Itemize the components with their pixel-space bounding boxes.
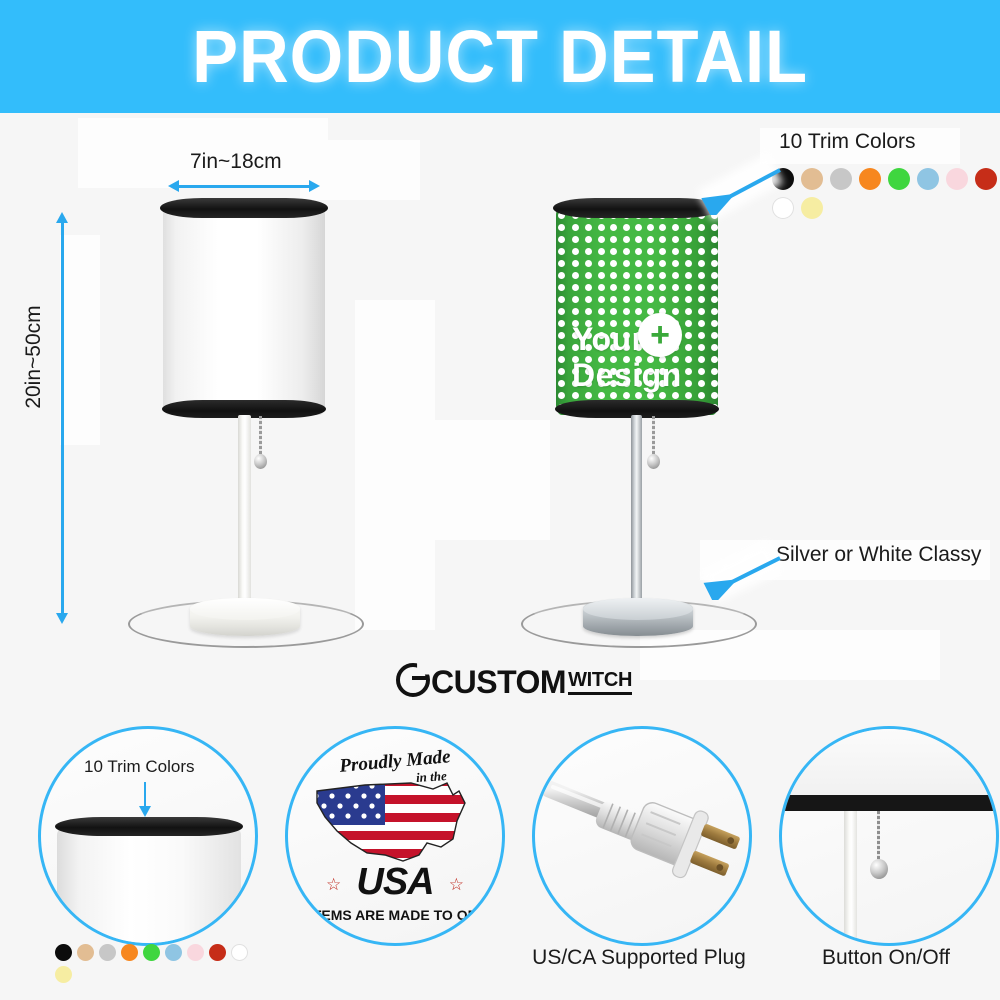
width-dimension-arrow xyxy=(168,180,320,192)
logo-secondary-wrap: WITCH xyxy=(568,671,632,697)
logo-underline xyxy=(568,692,632,695)
brand-logo: CUSTOM WITCH xyxy=(396,663,632,697)
header-banner: PRODUCT DETAIL xyxy=(0,0,1000,113)
trim-colors-inner-label: 10 Trim Colors xyxy=(84,757,195,777)
trim-band xyxy=(55,817,243,836)
lamp-shade-white xyxy=(163,205,325,415)
trim-swatch-lightblue[interactable] xyxy=(165,944,182,961)
trim-swatch-pink[interactable] xyxy=(187,944,204,961)
feature-circle-plug xyxy=(532,726,752,946)
trim-swatch-gray[interactable] xyxy=(99,944,116,961)
trim-swatch-red[interactable] xyxy=(209,944,226,961)
trim-band xyxy=(779,795,999,811)
bg-patch xyxy=(355,300,435,630)
pull-chain[interactable] xyxy=(652,416,655,458)
usa-star-right: ☆ xyxy=(449,875,464,895)
trim-colors-callout-label: 10 Trim Colors xyxy=(779,130,916,154)
design-line-2: Design xyxy=(572,357,682,393)
trim-swatch-yellow[interactable] xyxy=(55,966,72,983)
pull-chain[interactable] xyxy=(877,811,880,863)
trim-swatch-black[interactable] xyxy=(55,944,72,961)
pull-chain-ball[interactable] xyxy=(870,859,888,879)
trim-swatch-orange[interactable] xyxy=(859,168,881,190)
lamp-pole-silver xyxy=(631,415,642,605)
usa-headline: USA xyxy=(356,863,433,901)
lamp-trim-top xyxy=(160,198,328,218)
logo-c-mark-icon xyxy=(396,663,430,697)
feature-circle-switch xyxy=(779,726,999,946)
lamp-base-silver xyxy=(583,598,693,636)
shade-fragment xyxy=(57,827,241,946)
height-dimension-arrow xyxy=(56,212,68,624)
base-finish-arrow xyxy=(700,552,786,600)
bg-patch xyxy=(430,420,550,540)
trim-swatch-yellow[interactable] xyxy=(801,197,823,219)
switch-feature-label: Button On/Off xyxy=(779,946,993,970)
trim-swatch-tan[interactable] xyxy=(77,944,94,961)
height-dimension-label: 20in~50cm xyxy=(22,287,46,427)
trim-swatch-green[interactable] xyxy=(143,944,160,961)
lamp-trim-top xyxy=(553,198,721,218)
pull-chain[interactable] xyxy=(259,416,262,458)
base-finish-label: Silver or White Classy xyxy=(776,543,981,567)
lamp-pole-white xyxy=(238,415,251,605)
page-title: PRODUCT DETAIL xyxy=(192,20,808,94)
trim-swatch-orange[interactable] xyxy=(121,944,138,961)
trim-swatch-tan[interactable] xyxy=(801,168,823,190)
feature-circle-made-in-usa: Proudly Made in the xyxy=(285,726,505,946)
trim-swatch-red[interactable] xyxy=(975,168,997,190)
lamp-shade-custom[interactable]: Your Design + xyxy=(556,205,718,415)
trim-swatch-green[interactable] xyxy=(888,168,910,190)
shade-fragment xyxy=(779,729,999,801)
add-design-plus-icon[interactable]: + xyxy=(638,313,682,357)
trim-swatch-lightblue[interactable] xyxy=(917,168,939,190)
usa-subtitle: ALL ITEMS ARE MADE TO ORDER! xyxy=(285,907,505,923)
logo-secondary-text: WITCH xyxy=(568,671,632,690)
product-detail-page: PRODUCT DETAIL 7in~18cm 20in~50cm xyxy=(0,0,1000,1000)
width-dimension-label: 7in~18cm xyxy=(190,150,282,174)
lamp-base-white xyxy=(190,598,300,636)
trim-color-swatches-bottom[interactable] xyxy=(55,944,255,983)
usa-star-left: ☆ xyxy=(326,875,341,895)
trim-swatch-pink[interactable] xyxy=(946,168,968,190)
pull-chain-ball[interactable] xyxy=(254,454,267,469)
pull-chain-ball[interactable] xyxy=(647,454,660,469)
trim-swatch-gray[interactable] xyxy=(830,168,852,190)
trim-color-swatches-top[interactable] xyxy=(772,168,1000,219)
logo-primary-text: CUSTOM xyxy=(431,667,566,697)
plug-feature-label: US/CA Supported Plug xyxy=(532,946,746,970)
trim-colors-arrow xyxy=(700,165,786,215)
power-plug-icon xyxy=(535,729,749,943)
trim-swatch-white[interactable] xyxy=(231,944,248,961)
lamp-pole[interactable] xyxy=(844,811,857,943)
